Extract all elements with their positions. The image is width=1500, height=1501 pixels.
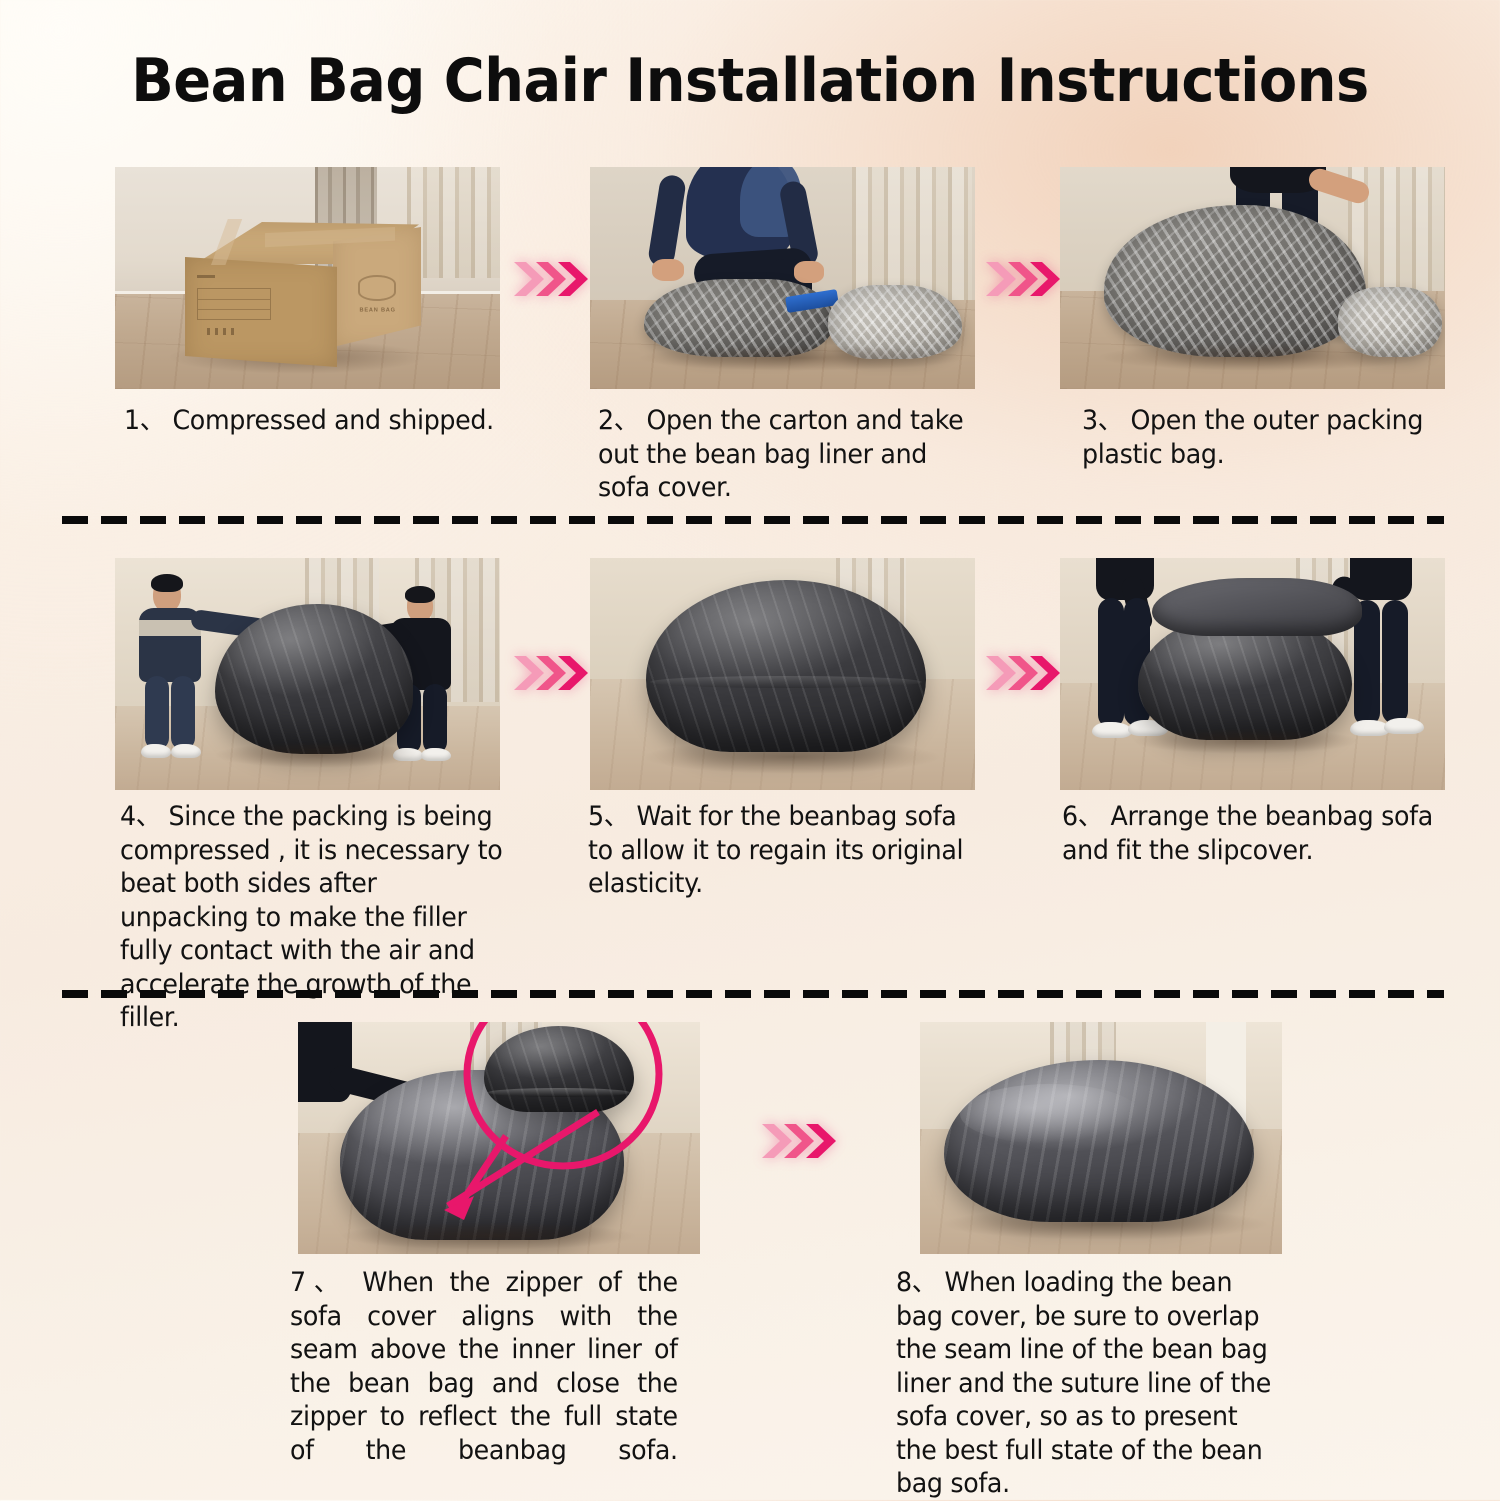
step-1-separator: 、 [140, 405, 165, 436]
step-8-separator: 、 [912, 1267, 937, 1298]
step-7-number: 7 [290, 1267, 306, 1298]
step-2-photo [590, 167, 975, 389]
step-3-number: 3 [1082, 405, 1098, 436]
step-6-caption: 6、 Arrange the beanbag sofa and fit the … [1062, 800, 1436, 867]
carton-shipping-label [197, 288, 271, 320]
step-5-caption: 5、 Wait for the beanbag sofa to allow it… [588, 800, 970, 901]
step-5-photo [590, 558, 975, 790]
step-2-caption: 2、 Open the carton and take out the bean… [598, 404, 972, 505]
step-6-photo [1060, 558, 1445, 790]
step-7-caption: 7、 When the zipper of the sofa cover ali… [290, 1266, 678, 1501]
step-4-caption: 4、 Since the packing is being compressed… [120, 800, 504, 1035]
step-2-separator: 、 [614, 405, 639, 436]
bean-bag-logo-icon [358, 275, 396, 301]
step-6-text: Arrange the beanbag sofa and fit the sli… [1062, 801, 1433, 866]
step-3-separator: 、 [1098, 405, 1123, 436]
step-1-caption: 1、 Compressed and shipped. [124, 404, 506, 438]
step-2-text: Open the carton and take out the bean ba… [598, 405, 963, 503]
step-3-photo [1060, 167, 1445, 389]
step-7-text: When the zipper of the sofa cover aligns… [290, 1267, 678, 1466]
step-8-photo [920, 1022, 1282, 1254]
step-5-text: Wait for the beanbag sofa to allow it to… [588, 801, 963, 899]
step-6-number: 6 [1062, 801, 1078, 832]
step-4-photo [115, 558, 500, 790]
step-8-number: 8 [896, 1267, 912, 1298]
step-4-text: Since the packing is being compressed , … [120, 801, 502, 1033]
page-title: Bean Bag Chair Installation Instructions [53, 46, 1448, 116]
step-1-number: 1 [124, 405, 140, 436]
step-4-number: 4 [120, 801, 136, 832]
step-8-text: When loading the bean bag cover, be sure… [896, 1267, 1271, 1499]
arrow-step7-to-step8 [760, 1118, 836, 1164]
arrow-step1-to-step2 [512, 256, 588, 302]
instruction-sheet: Bean Bag Chair Installation Instructions… [0, 0, 1500, 1500]
arrow-step2-to-step3 [984, 256, 1060, 302]
arrow-step4-to-step5 [512, 650, 588, 696]
divider-row1-row2 [62, 516, 1444, 524]
carton-brand-text: BEAN BAG [360, 308, 396, 314]
step-3-text: Open the outer packing plastic bag. [1082, 405, 1423, 470]
step-5-separator: 、 [604, 801, 629, 832]
step-8-caption: 8、 When loading the bean bag cover, be s… [896, 1266, 1274, 1501]
step-7-separator: 、 [306, 1267, 347, 1298]
step-1-photo: BEAN BAG [115, 167, 500, 389]
arrow-step5-to-step6 [984, 650, 1060, 696]
step-1-text: Compressed and shipped. [172, 405, 493, 436]
step-3-caption: 3、 Open the outer packing plastic bag. [1082, 404, 1437, 471]
divider-row2-row3 [62, 990, 1444, 998]
step-4-separator: 、 [136, 801, 161, 832]
step-6-separator: 、 [1078, 801, 1103, 832]
step-5-number: 5 [588, 801, 604, 832]
step-2-number: 2 [598, 405, 614, 436]
step-7-photo [298, 1022, 700, 1254]
